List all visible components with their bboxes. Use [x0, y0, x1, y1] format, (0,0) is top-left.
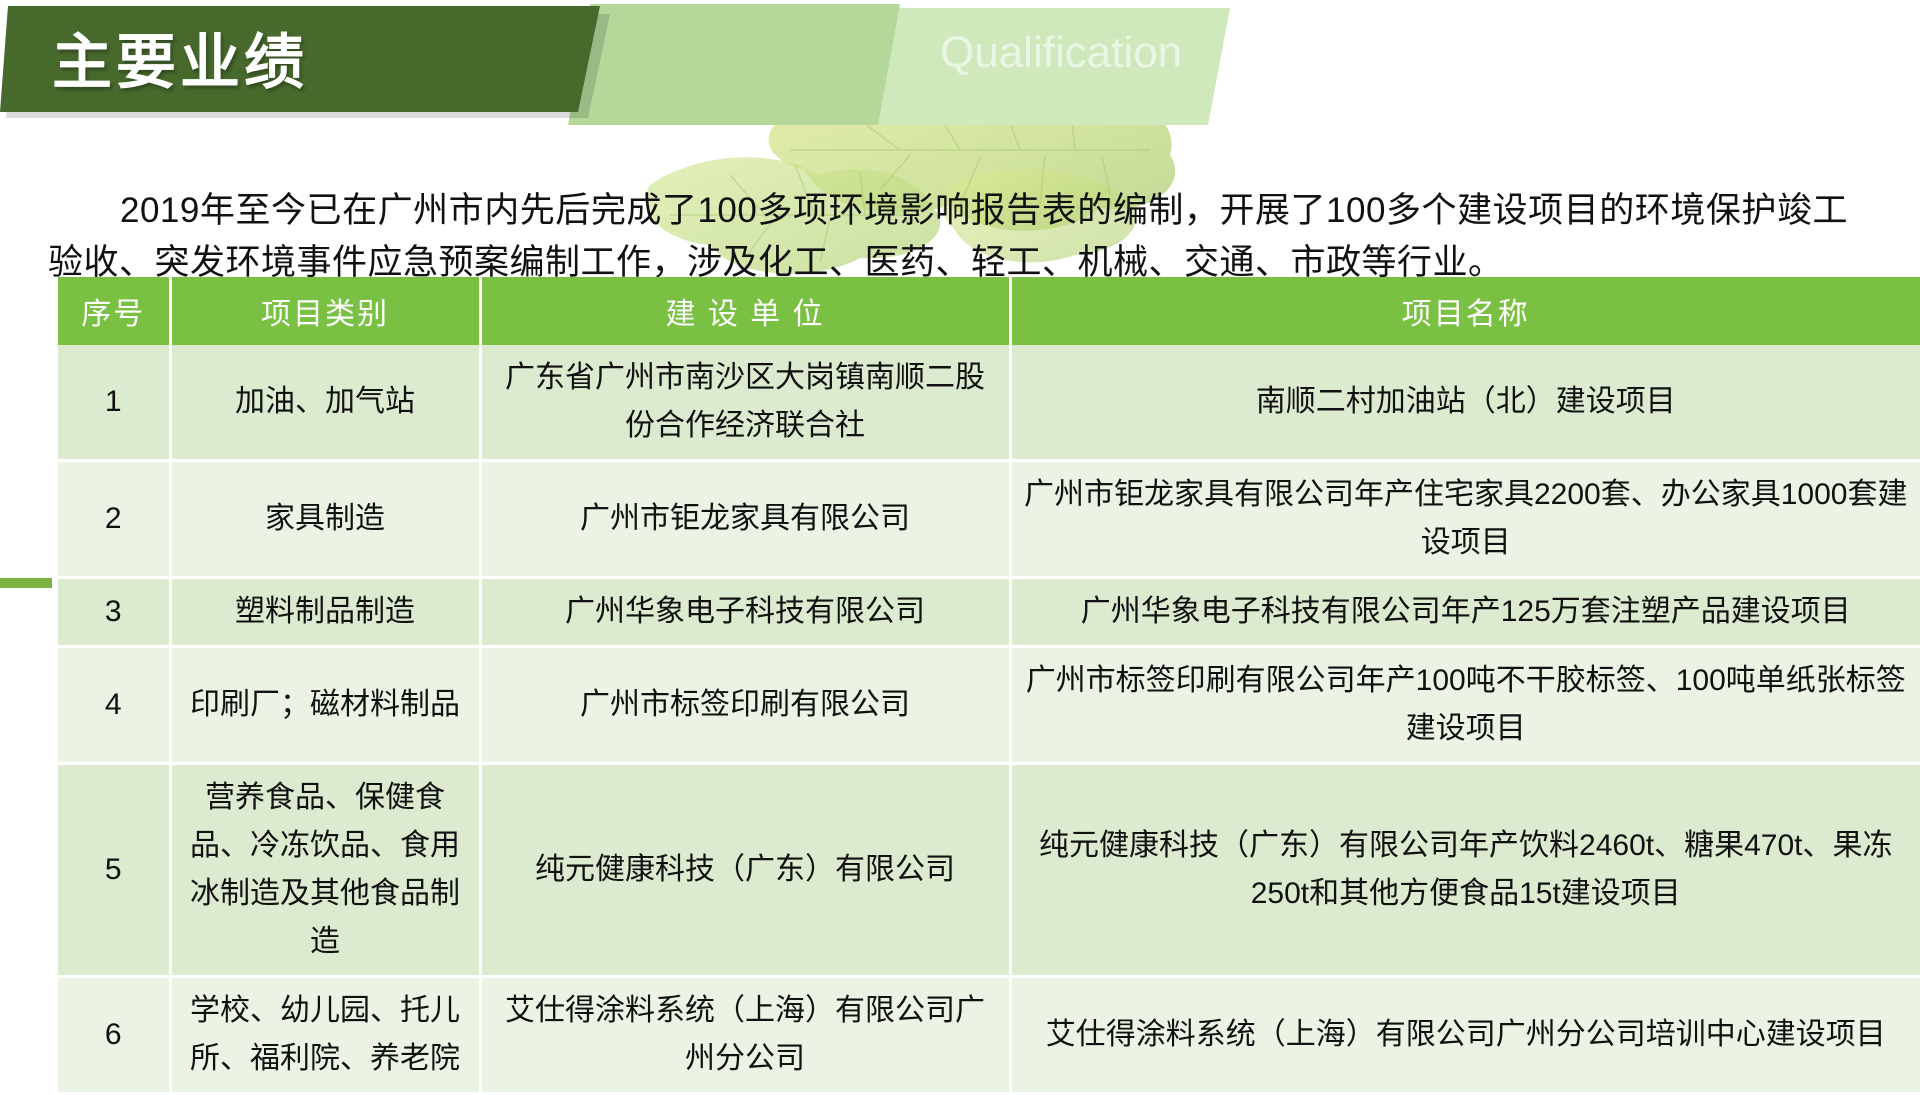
left-accent-bar: [0, 578, 52, 588]
column-header-unit: 建 设 单 位: [480, 277, 1010, 345]
column-header-category: 项目类别: [170, 277, 480, 345]
cell-category: 家具制造: [170, 461, 480, 578]
cell-no: 5: [58, 764, 170, 977]
intro-paragraph: 2019年至今已在广州市内先后完成了100多项环境影响报告表的编制，开展了100…: [48, 185, 1848, 289]
table-row: 5 营养食品、保健食品、冷冻饮品、食用冰制造及其他食品制造 纯元健康科技（广东）…: [58, 764, 1920, 977]
cell-unit: 艾仕得涂料系统（上海）有限公司广州分公司: [480, 977, 1010, 1094]
table-row: 4 印刷厂；磁材料制品 广州市标签印刷有限公司 广州市标签印刷有限公司年产100…: [58, 647, 1920, 764]
cell-no: 6: [58, 977, 170, 1094]
cell-category: 印刷厂；磁材料制品: [170, 647, 480, 764]
cell-name: 广州市标签印刷有限公司年产100吨不干胶标签、100吨单纸张标签建设项目: [1010, 647, 1920, 764]
performance-table: 序号 项目类别 建 设 单 位 项目名称 1 加油、加气站 广东省广州市南沙区大…: [58, 277, 1920, 1095]
banner-subtitle: Qualification: [940, 28, 1182, 78]
cell-name: 纯元健康科技（广东）有限公司年产饮料2460t、糖果470t、果冻250t和其他…: [1010, 764, 1920, 977]
cell-category: 营养食品、保健食品、冷冻饮品、食用冰制造及其他食品制造: [170, 764, 480, 977]
cell-name: 广州市钜龙家具有限公司年产住宅家具2200套、办公家具1000套建设项目: [1010, 461, 1920, 578]
table-row: 6 学校、幼儿园、托儿所、福利院、养老院 艾仕得涂料系统（上海）有限公司广州分公…: [58, 977, 1920, 1094]
page-title: 主要业绩: [52, 14, 308, 101]
cell-unit: 广州市标签印刷有限公司: [480, 647, 1010, 764]
cell-category: 加油、加气站: [170, 345, 480, 461]
cell-no: 4: [58, 647, 170, 764]
cell-no: 3: [58, 578, 170, 647]
cell-name: 南顺二村加油站（北）建设项目: [1010, 345, 1920, 461]
cell-no: 2: [58, 461, 170, 578]
table-row: 2 家具制造 广州市钜龙家具有限公司 广州市钜龙家具有限公司年产住宅家具2200…: [58, 461, 1920, 578]
cell-category: 塑料制品制造: [170, 578, 480, 647]
cell-no: 1: [58, 345, 170, 461]
table-row: 3 塑料制品制造 广州华象电子科技有限公司 广州华象电子科技有限公司年产125万…: [58, 578, 1920, 647]
cell-unit: 纯元健康科技（广东）有限公司: [480, 764, 1010, 977]
banner-mid-panel: [568, 4, 900, 125]
cell-name: 艾仕得涂料系统（上海）有限公司广州分公司培训中心建设项目: [1010, 977, 1920, 1094]
cell-unit: 广东省广州市南沙区大岗镇南顺二股份合作经济联合社: [480, 345, 1010, 461]
cell-unit: 广州市钜龙家具有限公司: [480, 461, 1010, 578]
table-header-row: 序号 项目类别 建 设 单 位 项目名称: [58, 277, 1920, 345]
cell-unit: 广州华象电子科技有限公司: [480, 578, 1010, 647]
header-banner: 主要业绩 Qualification: [0, 0, 1230, 125]
table-row: 1 加油、加气站 广东省广州市南沙区大岗镇南顺二股份合作经济联合社 南顺二村加油…: [58, 345, 1920, 461]
cell-name: 广州华象电子科技有限公司年产125万套注塑产品建设项目: [1010, 578, 1920, 647]
column-header-name: 项目名称: [1010, 277, 1920, 345]
column-header-no: 序号: [58, 277, 170, 345]
cell-category: 学校、幼儿园、托儿所、福利院、养老院: [170, 977, 480, 1094]
